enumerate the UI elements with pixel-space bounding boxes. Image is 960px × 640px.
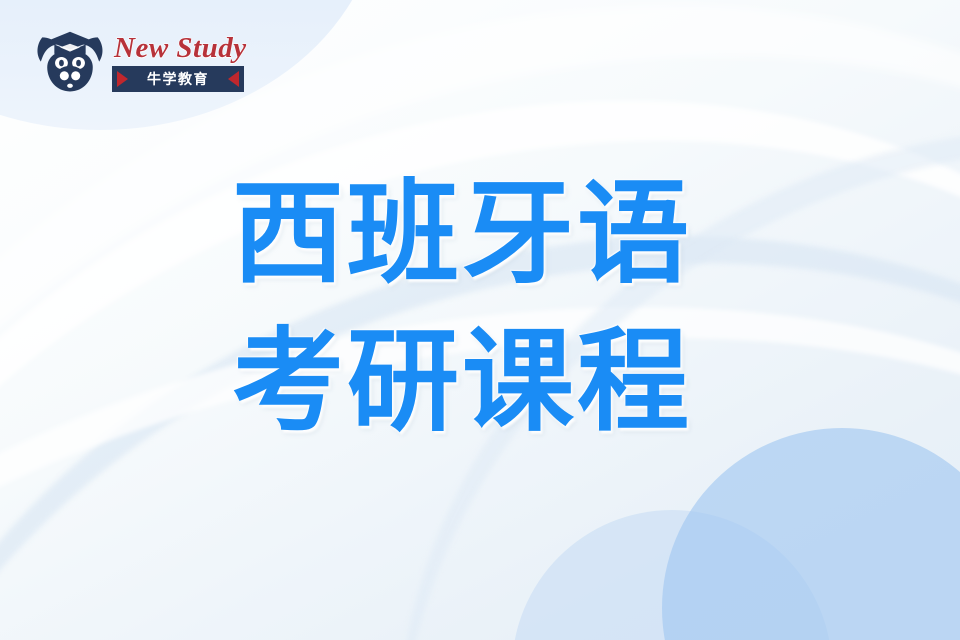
logo-text-block: New Study 牛学教育 xyxy=(112,34,249,92)
logo-wordmark: New Study xyxy=(112,34,249,63)
poster-canvas: New Study 牛学教育 西班牙语 考研课程 xyxy=(0,0,960,640)
decorative-circle-small xyxy=(512,510,832,640)
logo-banner: 牛学教育 xyxy=(112,66,244,92)
triangle-left-icon xyxy=(228,71,239,87)
logo-banner-label: 牛学教育 xyxy=(147,72,209,86)
bull-graduate-icon xyxy=(34,26,106,100)
headline-line-2: 考研课程 xyxy=(232,308,692,456)
headline-line-1: 西班牙语 xyxy=(232,160,692,308)
brand-logo[interactable]: New Study 牛学教育 xyxy=(34,26,249,100)
triangle-right-icon xyxy=(117,71,128,87)
decorative-circle-large xyxy=(662,428,960,640)
headline-block: 西班牙语 考研课程 xyxy=(232,160,692,456)
